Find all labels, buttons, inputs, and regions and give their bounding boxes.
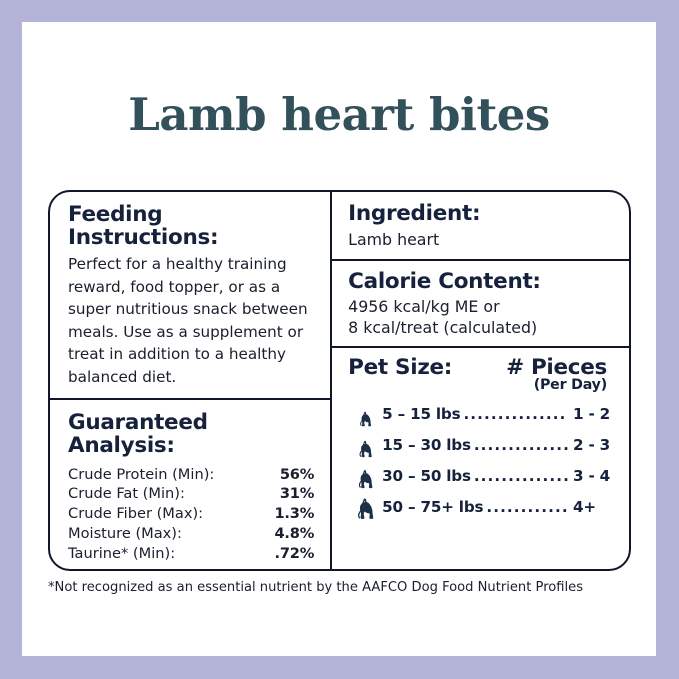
analysis-row: Crude Fat (Min): 31%	[68, 484, 314, 504]
analysis-row: Crude Protein (Min): 56%	[68, 464, 314, 484]
dog-icon	[358, 410, 373, 427]
left-column: Feeding Instructions: Perfect for a heal…	[50, 192, 332, 569]
analysis-label: Crude Fiber (Max):	[68, 505, 203, 522]
dog-icon	[357, 439, 374, 458]
leader-dots: ...............	[460, 405, 573, 423]
feeding-instructions-text: Perfect for a healthy training reward, f…	[68, 253, 310, 388]
dog-icon	[355, 496, 376, 520]
feeding-instructions-section: Feeding Instructions: Perfect for a heal…	[50, 192, 330, 398]
calorie-content-section: Calorie Content: 4956 kcal/kg ME or 8 kc…	[332, 261, 629, 348]
analysis-value: .72%	[274, 545, 314, 562]
analysis-label: Taurine* (Min):	[68, 545, 175, 562]
guaranteed-analysis-section: Guaranteed Analysis: Crude Protein (Min)…	[50, 398, 330, 571]
guaranteed-analysis-heading: Guaranteed Analysis:	[68, 412, 314, 457]
pieces-heading-group: # Pieces (Per Day)	[506, 357, 615, 394]
pet-size-heading: Pet Size:	[348, 357, 452, 380]
dog-icon-slot	[348, 398, 382, 429]
pet-size-label: 30 – 50 lbs	[382, 467, 471, 485]
analysis-value: 56%	[280, 466, 314, 483]
analysis-label: Crude Protein (Min):	[68, 466, 214, 483]
ingredient-text: Lamb heart	[348, 228, 615, 251]
footnote-text: *Not recognized as an essential nutrient…	[48, 580, 628, 595]
pet-size-label: 5 – 15 lbs	[382, 405, 460, 423]
guaranteed-analysis-list: Crude Protein (Min): 56% Crude Fat (Min)…	[68, 464, 314, 563]
analysis-value: 1.3%	[274, 505, 314, 522]
calorie-line-1: 4956 kcal/kg ME or	[348, 296, 615, 317]
nutrition-info-panel: Feeding Instructions: Perfect for a heal…	[48, 190, 631, 571]
dog-icon-slot	[348, 491, 382, 522]
analysis-label: Crude Fat (Min):	[68, 485, 185, 502]
calorie-content-text: 4956 kcal/kg ME or 8 kcal/treat (calcula…	[348, 296, 615, 338]
page-title: Lamb heart bites	[22, 92, 656, 137]
table-row: 15 – 30 lbs .............. 2 - 3	[348, 429, 615, 460]
pet-size-label: 15 – 30 lbs	[382, 436, 471, 454]
pet-size-table: 5 – 15 lbs ............... 1 - 2	[348, 398, 615, 522]
product-label-page: Lamb heart bites Feeding Instructions: P…	[0, 0, 679, 679]
ingredient-heading: Ingredient:	[348, 203, 615, 226]
calorie-content-heading: Calorie Content:	[348, 271, 615, 294]
pieces-value: 4+	[573, 498, 615, 516]
leader-dots: ............	[483, 498, 573, 516]
pieces-value: 1 - 2	[573, 405, 615, 423]
leader-dots: ..............	[471, 436, 573, 454]
dog-icon	[356, 468, 375, 489]
analysis-value: 31%	[280, 485, 314, 502]
pieces-value: 2 - 3	[573, 436, 615, 454]
pieces-heading: # Pieces	[506, 357, 607, 380]
analysis-label: Moisture (Max):	[68, 525, 182, 542]
ingredient-section: Ingredient: Lamb heart	[332, 192, 629, 261]
table-row: 5 – 15 lbs ............... 1 - 2	[348, 398, 615, 429]
pet-size-section: Pet Size: # Pieces (Per Day)	[332, 348, 629, 569]
feeding-instructions-heading: Feeding Instructions:	[68, 204, 314, 249]
right-column: Ingredient: Lamb heart Calorie Content: …	[332, 192, 629, 569]
table-row: 50 – 75+ lbs ............ 4+	[348, 491, 615, 522]
dog-icon-slot	[348, 429, 382, 460]
table-row: 30 – 50 lbs .............. 3 - 4	[348, 460, 615, 491]
analysis-value: 4.8%	[274, 525, 314, 542]
pet-size-label: 50 – 75+ lbs	[382, 498, 483, 516]
analysis-row: Moisture (Max): 4.8%	[68, 524, 314, 544]
dog-icon-slot	[348, 460, 382, 491]
pieces-value: 3 - 4	[573, 467, 615, 485]
calorie-line-2: 8 kcal/treat (calculated)	[348, 317, 615, 338]
leader-dots: ..............	[471, 467, 573, 485]
pet-size-header-row: Pet Size: # Pieces (Per Day)	[348, 357, 615, 394]
analysis-row: Crude Fiber (Max): 1.3%	[68, 504, 314, 524]
analysis-row: Taurine* (Min): .72%	[68, 543, 314, 563]
